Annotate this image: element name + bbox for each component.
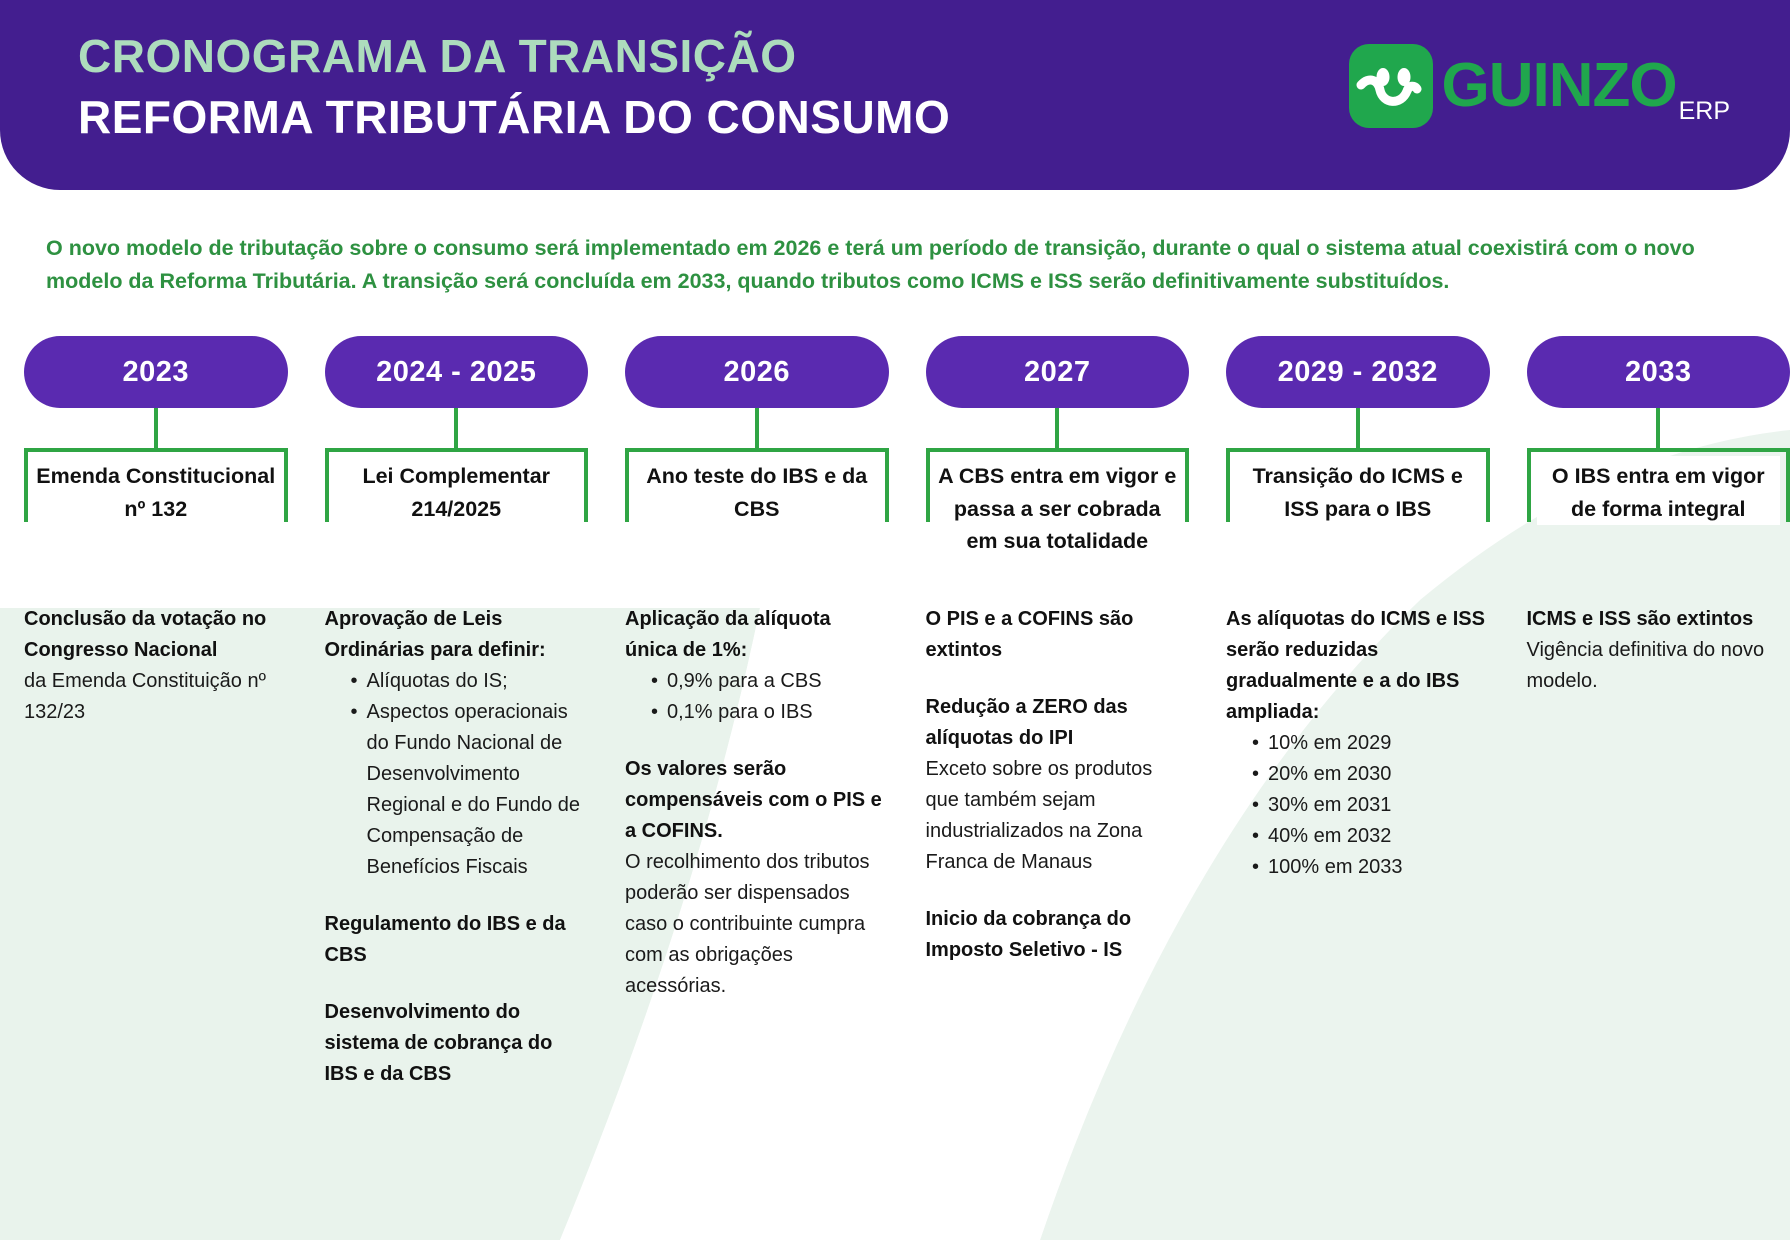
smiley-face-icon xyxy=(1349,44,1433,128)
block-text: O recolhimento dos tributos poderão ser … xyxy=(625,847,885,1002)
block-heading: Aplicação da alíquota única de 1%: xyxy=(625,604,885,666)
list-item: Alíquotas do IS; xyxy=(351,666,585,697)
content-block: Regulamento do IBS e da CBS xyxy=(325,909,585,971)
block-heading: O PIS e a COFINS são extintos xyxy=(926,604,1186,666)
content-block: O PIS e a COFINS são extintos xyxy=(926,604,1186,666)
milestone-title: Emenda Constitucional nº 132 xyxy=(34,456,278,525)
connector-line xyxy=(154,408,158,448)
column-body: As alíquotas do ICMS e ISS serão reduzid… xyxy=(1226,604,1490,883)
connector-line xyxy=(1055,408,1059,448)
block-text: da Emenda Constituição nº 132/23 xyxy=(24,666,284,728)
list-item: 30% em 2031 xyxy=(1252,790,1486,821)
timeline-column: 2023Emenda Constitucional nº 132Conclusã… xyxy=(24,336,288,1090)
block-text: Exceto sobre os produtos que também seja… xyxy=(926,754,1186,878)
year-pill[interactable]: 2023 xyxy=(24,336,288,408)
list-item: 40% em 2032 xyxy=(1252,821,1486,852)
milestone-bracket: Transição do ICMS e ISS para o IBS xyxy=(1226,448,1490,522)
timeline-column: 2033O IBS entra em vigor de forma integr… xyxy=(1527,336,1790,1090)
content-block: Redução a ZERO das alíquotas do IPIExcet… xyxy=(926,692,1186,878)
timeline-column: 2024 - 2025Lei Complementar 214/2025Apro… xyxy=(325,336,589,1090)
timeline-column: 2026Ano teste do IBS e da CBSAplicação d… xyxy=(625,336,889,1090)
bullet-list: 10% em 202920% em 203030% em 203140% em … xyxy=(1226,728,1486,883)
column-spacer xyxy=(24,522,288,604)
column-body: ICMS e ISS são extintosVigência definiti… xyxy=(1527,604,1790,697)
list-item: 20% em 2030 xyxy=(1252,759,1486,790)
block-heading: Os valores serão compensáveis com o PIS … xyxy=(625,754,885,847)
list-item: 0,1% para o IBS xyxy=(651,697,885,728)
content-block: Inicio da cobrança do Imposto Seletivo -… xyxy=(926,904,1186,966)
column-body: Conclusão da votação no Congresso Nacion… xyxy=(24,604,288,728)
page-title-line1: CRONOGRAMA DA TRANSIÇÃO xyxy=(78,26,950,87)
milestone-title: Ano teste do IBS e da CBS xyxy=(635,456,879,525)
list-item: 0,9% para a CBS xyxy=(651,666,885,697)
milestone-bracket: Lei Complementar 214/2025 xyxy=(325,448,589,522)
year-pill[interactable]: 2029 - 2032 xyxy=(1226,336,1490,408)
timeline-column: 2029 - 2032Transição do ICMS e ISS para … xyxy=(1226,336,1490,1090)
block-heading: As alíquotas do ICMS e ISS serão reduzid… xyxy=(1226,604,1486,728)
block-heading: ICMS e ISS são extintos xyxy=(1527,604,1787,635)
intro-paragraph: O novo modelo de tributação sobre o cons… xyxy=(46,232,1752,297)
block-heading: Inicio da cobrança do Imposto Seletivo -… xyxy=(926,904,1186,966)
column-spacer xyxy=(325,522,589,604)
year-pill[interactable]: 2026 xyxy=(625,336,889,408)
milestone-title: O IBS entra em vigor de forma integral xyxy=(1537,456,1781,525)
milestone-bracket: O IBS entra em vigor de forma integral xyxy=(1527,448,1790,522)
milestone-title: A CBS entra em vigor e passa a ser cobra… xyxy=(936,456,1180,558)
column-body: Aplicação da alíquota única de 1%:0,9% p… xyxy=(625,604,889,1002)
connector-line xyxy=(1656,408,1660,448)
bullet-list: 0,9% para a CBS0,1% para o IBS xyxy=(625,666,885,728)
block-heading: Regulamento do IBS e da CBS xyxy=(325,909,585,971)
block-heading: Conclusão da votação no Congresso Nacion… xyxy=(24,604,284,666)
bullet-list: Alíquotas do IS;Aspectos operacionais do… xyxy=(325,666,585,883)
connector-line xyxy=(755,408,759,448)
content-block: Aplicação da alíquota única de 1%:0,9% p… xyxy=(625,604,885,728)
page-header: CRONOGRAMA DA TRANSIÇÃO REFORMA TRIBUTÁR… xyxy=(0,0,1790,190)
milestone-bracket: Emenda Constitucional nº 132 xyxy=(24,448,288,522)
column-body: Aprovação de Leis Ordinárias para defini… xyxy=(325,604,589,1090)
milestone-title: Lei Complementar 214/2025 xyxy=(335,456,579,525)
header-titles: CRONOGRAMA DA TRANSIÇÃO REFORMA TRIBUTÁR… xyxy=(78,26,950,147)
timeline-columns: 2023Emenda Constitucional nº 132Conclusã… xyxy=(0,336,1790,1090)
content-block: Desenvolvimento do sistema de cobrança d… xyxy=(325,997,585,1090)
brand-logo: GUINZO ERP xyxy=(1349,44,1730,128)
connector-line xyxy=(1356,408,1360,448)
block-heading: Redução a ZERO das alíquotas do IPI xyxy=(926,692,1186,754)
content-block: Os valores serão compensáveis com o PIS … xyxy=(625,754,885,1002)
logo-suffix: ERP xyxy=(1679,99,1730,124)
page-title-line2: REFORMA TRIBUTÁRIA DO CONSUMO xyxy=(78,87,950,148)
block-heading: Aprovação de Leis Ordinárias para defini… xyxy=(325,604,585,666)
milestone-bracket: A CBS entra em vigor e passa a ser cobra… xyxy=(926,448,1190,522)
column-spacer xyxy=(625,522,889,604)
logo-wordmark: GUINZO xyxy=(1441,55,1676,117)
column-spacer xyxy=(1527,522,1790,604)
content-block: ICMS e ISS são extintosVigência definiti… xyxy=(1527,604,1787,697)
milestone-title: Transição do ICMS e ISS para o IBS xyxy=(1236,456,1480,525)
block-heading: Desenvolvimento do sistema de cobrança d… xyxy=(325,997,585,1090)
block-text: Vigência definitiva do novo modelo. xyxy=(1527,635,1787,697)
milestone-bracket: Ano teste do IBS e da CBS xyxy=(625,448,889,522)
content-block: As alíquotas do ICMS e ISS serão reduzid… xyxy=(1226,604,1486,883)
content-block: Conclusão da votação no Congresso Nacion… xyxy=(24,604,284,728)
column-body: O PIS e a COFINS são extintosRedução a Z… xyxy=(926,604,1190,966)
list-item: 10% em 2029 xyxy=(1252,728,1486,759)
content-block: Aprovação de Leis Ordinárias para defini… xyxy=(325,604,585,883)
list-item: 100% em 2033 xyxy=(1252,852,1486,883)
connector-line xyxy=(454,408,458,448)
year-pill[interactable]: 2024 - 2025 xyxy=(325,336,589,408)
column-spacer xyxy=(1226,522,1490,604)
list-item: Aspectos operacionais do Fundo Nacional … xyxy=(351,697,585,883)
timeline-column: 2027A CBS entra em vigor e passa a ser c… xyxy=(926,336,1190,1090)
year-pill[interactable]: 2033 xyxy=(1527,336,1790,408)
year-pill[interactable]: 2027 xyxy=(926,336,1190,408)
